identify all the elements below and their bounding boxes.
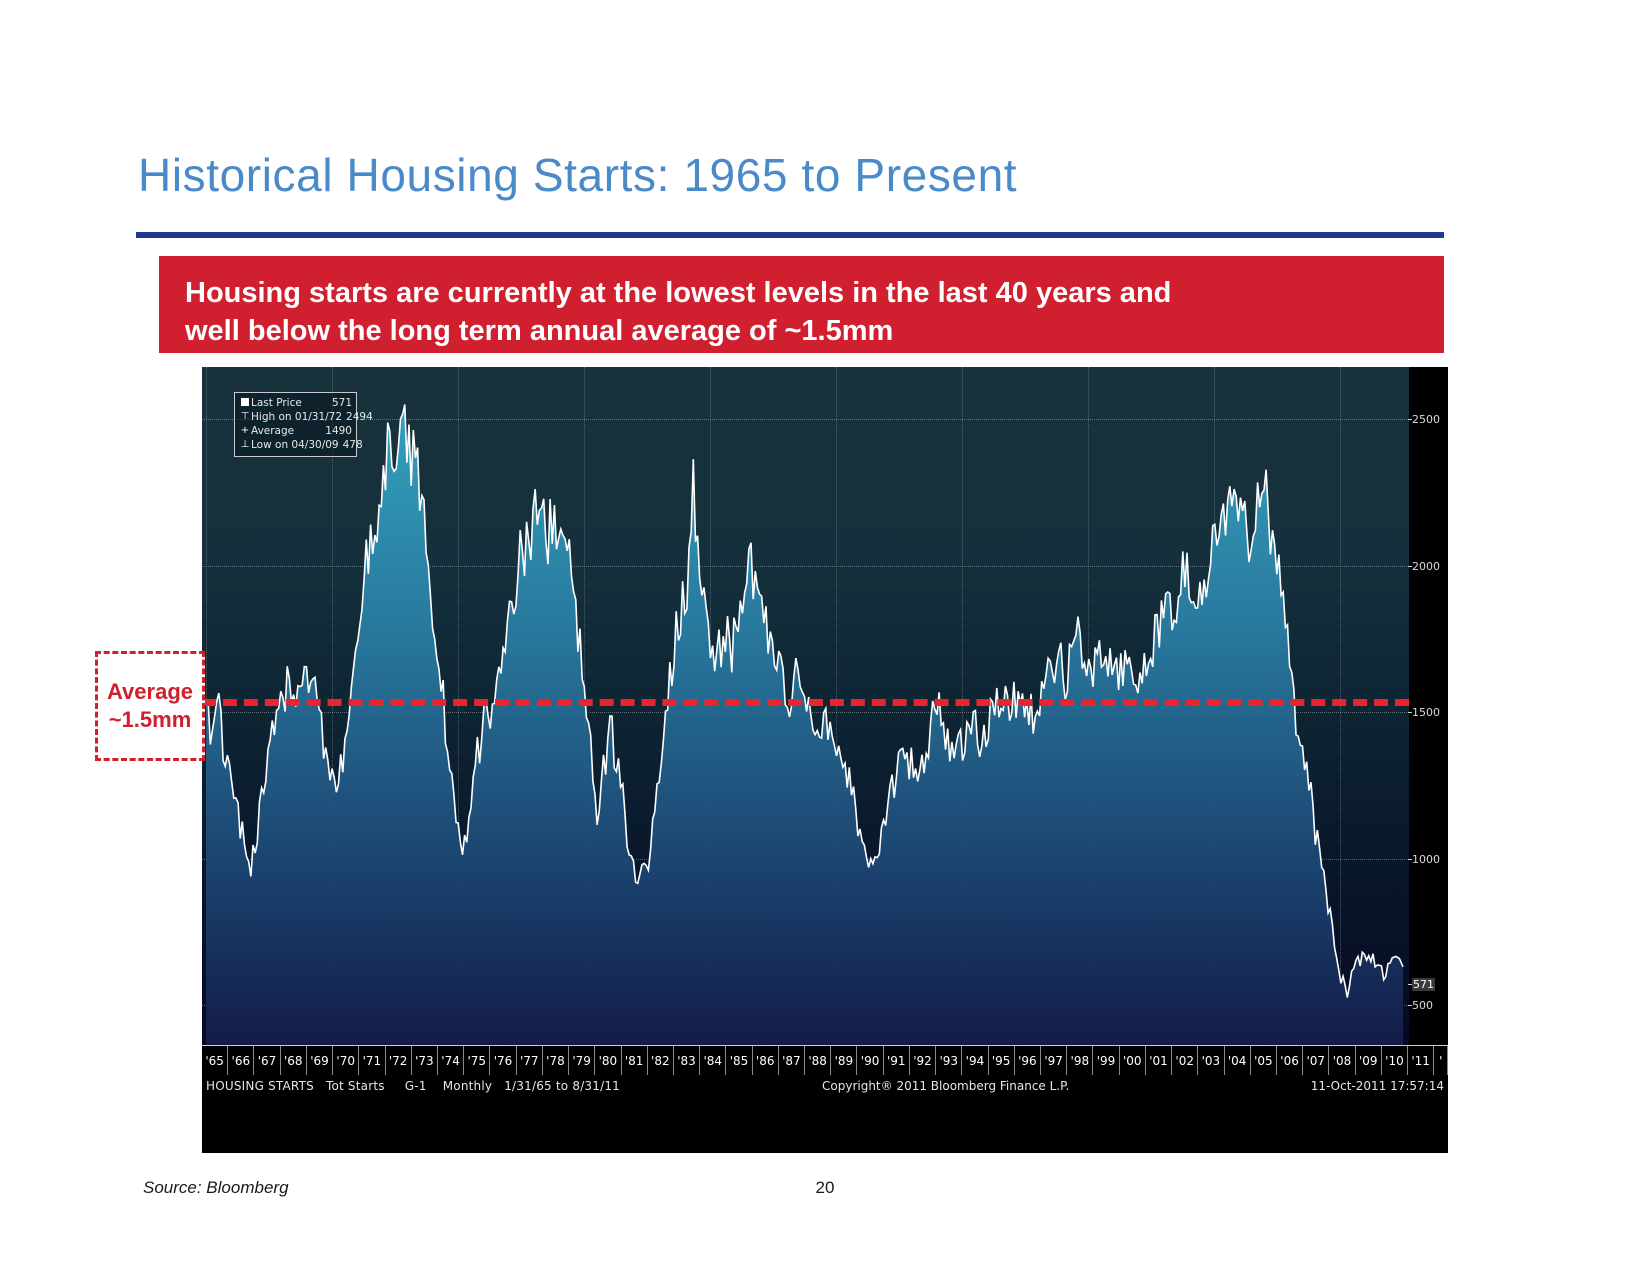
average-callout: Average ~1.5mm: [95, 651, 205, 761]
x-axis-tick-98: '98: [1067, 1046, 1093, 1076]
legend-label: Last Price: [251, 396, 328, 410]
page-title: Historical Housing Starts: 1965 to Prese…: [138, 148, 1017, 202]
x-axis-tick-10: '10: [1382, 1046, 1408, 1076]
y-tick-1500: 1500: [1412, 706, 1440, 719]
x-axis-tick-92: '92: [910, 1046, 936, 1076]
x-axis-tick-66: '66: [228, 1046, 254, 1076]
legend-label: Low on 04/30/09: [251, 438, 339, 452]
x-axis-tick-01: '01: [1146, 1046, 1172, 1076]
x-axis-tick-08: '08: [1329, 1046, 1355, 1076]
legend-row-low: ⊥ Low on 04/30/09 478: [239, 438, 352, 452]
page-number: 20: [0, 1178, 1650, 1198]
x-axis-tick-02: '02: [1172, 1046, 1198, 1076]
x-axis-tick-82: '82: [648, 1046, 674, 1076]
y-tick-2000: 2000: [1412, 560, 1440, 573]
x-axis-tick-97: '97: [1041, 1046, 1067, 1076]
x-axis-tick-09: '09: [1356, 1046, 1382, 1076]
legend-value: 478: [339, 438, 363, 452]
x-axis-tick-77: '77: [517, 1046, 543, 1076]
x-axis-tick-87: '87: [779, 1046, 805, 1076]
x-axis-tick-11: '11: [1408, 1046, 1434, 1076]
average-callout-line-1: Average: [107, 678, 193, 706]
x-axis-tick-95: '95: [989, 1046, 1015, 1076]
status-code: G-1: [405, 1079, 427, 1093]
x-axis-tick-: ': [1434, 1046, 1448, 1076]
x-axis-tick-04: '04: [1225, 1046, 1251, 1076]
x-axis-tick-00: '00: [1120, 1046, 1146, 1076]
callout-line-2: well below the long term annual average …: [185, 312, 1420, 350]
legend-row-average: + Average 1490: [239, 424, 352, 438]
x-axis-tick-85: '85: [726, 1046, 752, 1076]
x-axis-tick-80: '80: [595, 1046, 621, 1076]
x-axis-tick-69: '69: [307, 1046, 333, 1076]
status-field: Tot Starts: [326, 1079, 385, 1093]
average-line: [202, 699, 1409, 706]
x-axis-tick-78: '78: [543, 1046, 569, 1076]
legend-value: 571: [328, 396, 352, 410]
x-axis-tick-71: '71: [359, 1046, 385, 1076]
x-axis-tick-05: '05: [1251, 1046, 1277, 1076]
chart-status-bar: HOUSING STARTS Tot Starts G-1 Monthly 1/…: [202, 1075, 1448, 1099]
legend-row-high: ⊤ High on 01/31/72 2494: [239, 410, 352, 424]
legend-value: 1490: [321, 424, 352, 438]
x-axis-tick-83: '83: [674, 1046, 700, 1076]
status-periodicity: Monthly: [443, 1079, 492, 1093]
legend-square-icon: [239, 396, 251, 410]
y-tick-2500: 2500: [1412, 413, 1440, 426]
x-axis-years: '65'66'67'68'69'70'71'72'73'74'75'76'77'…: [202, 1045, 1448, 1076]
x-axis-tick-90: '90: [857, 1046, 883, 1076]
x-axis-tick-72: '72: [386, 1046, 412, 1076]
status-security: HOUSING STARTS: [206, 1079, 314, 1093]
callout-line-1: Housing starts are currently at the lowe…: [185, 274, 1420, 312]
x-axis-tick-89: '89: [831, 1046, 857, 1076]
bloomberg-chart[interactable]: Last Price 571 ⊤ High on 01/31/72 2494 +…: [202, 367, 1448, 1153]
legend-label: High on 01/31/72: [251, 410, 342, 424]
x-axis-tick-75: '75: [464, 1046, 490, 1076]
x-axis-tick-79: '79: [569, 1046, 595, 1076]
legend-high-marker-icon: ⊤: [239, 410, 251, 424]
y-tick-1000: 1000: [1412, 853, 1440, 866]
x-axis-tick-93: '93: [936, 1046, 962, 1076]
legend-value: 2494: [342, 410, 373, 424]
status-range: 1/31/65 to 8/31/11: [504, 1079, 620, 1093]
legend-average-marker-icon: +: [239, 424, 251, 438]
x-axis-tick-99: '99: [1093, 1046, 1119, 1076]
y-tick-500: 500: [1412, 999, 1433, 1012]
average-callout-line-2: ~1.5mm: [109, 706, 192, 734]
x-axis-tick-86: '86: [753, 1046, 779, 1076]
y-tick-last-price: 571: [1412, 978, 1435, 991]
x-axis-tick-07: '07: [1303, 1046, 1329, 1076]
x-axis-tick-68: '68: [281, 1046, 307, 1076]
x-axis-tick-73: '73: [412, 1046, 438, 1076]
housing-starts-series: [202, 367, 1409, 1045]
x-axis-tick-70: '70: [333, 1046, 359, 1076]
x-axis-tick-91: '91: [884, 1046, 910, 1076]
status-copyright: Copyright® 2011 Bloomberg Finance L.P.: [822, 1079, 1069, 1093]
x-axis-tick-96: '96: [1015, 1046, 1041, 1076]
x-axis-tick-65: '65: [202, 1046, 228, 1076]
chart-legend: Last Price 571 ⊤ High on 01/31/72 2494 +…: [234, 392, 357, 457]
x-axis-tick-03: '03: [1198, 1046, 1224, 1076]
x-axis-tick-06: '06: [1277, 1046, 1303, 1076]
x-axis-tick-74: '74: [438, 1046, 464, 1076]
x-axis-tick-67: '67: [254, 1046, 280, 1076]
x-axis-tick-76: '76: [490, 1046, 516, 1076]
legend-label: Average: [251, 424, 321, 438]
legend-row-last-price: Last Price 571: [239, 396, 352, 410]
callout-banner: Housing starts are currently at the lowe…: [159, 256, 1444, 353]
x-axis-tick-88: '88: [805, 1046, 831, 1076]
x-axis-tick-94: '94: [962, 1046, 988, 1076]
chart-plot-area[interactable]: Last Price 571 ⊤ High on 01/31/72 2494 +…: [202, 367, 1409, 1045]
x-axis-tick-81: '81: [622, 1046, 648, 1076]
legend-low-marker-icon: ⊥: [239, 438, 251, 452]
title-divider: [136, 232, 1444, 238]
y-axis-scale: 2500 2000 1500 1000 571 500: [1409, 367, 1448, 1045]
status-timestamp: 11-Oct-2011 17:57:14: [1311, 1079, 1444, 1093]
x-axis-tick-84: '84: [700, 1046, 726, 1076]
status-security-line: HOUSING STARTS Tot Starts G-1 Monthly 1/…: [206, 1079, 620, 1093]
